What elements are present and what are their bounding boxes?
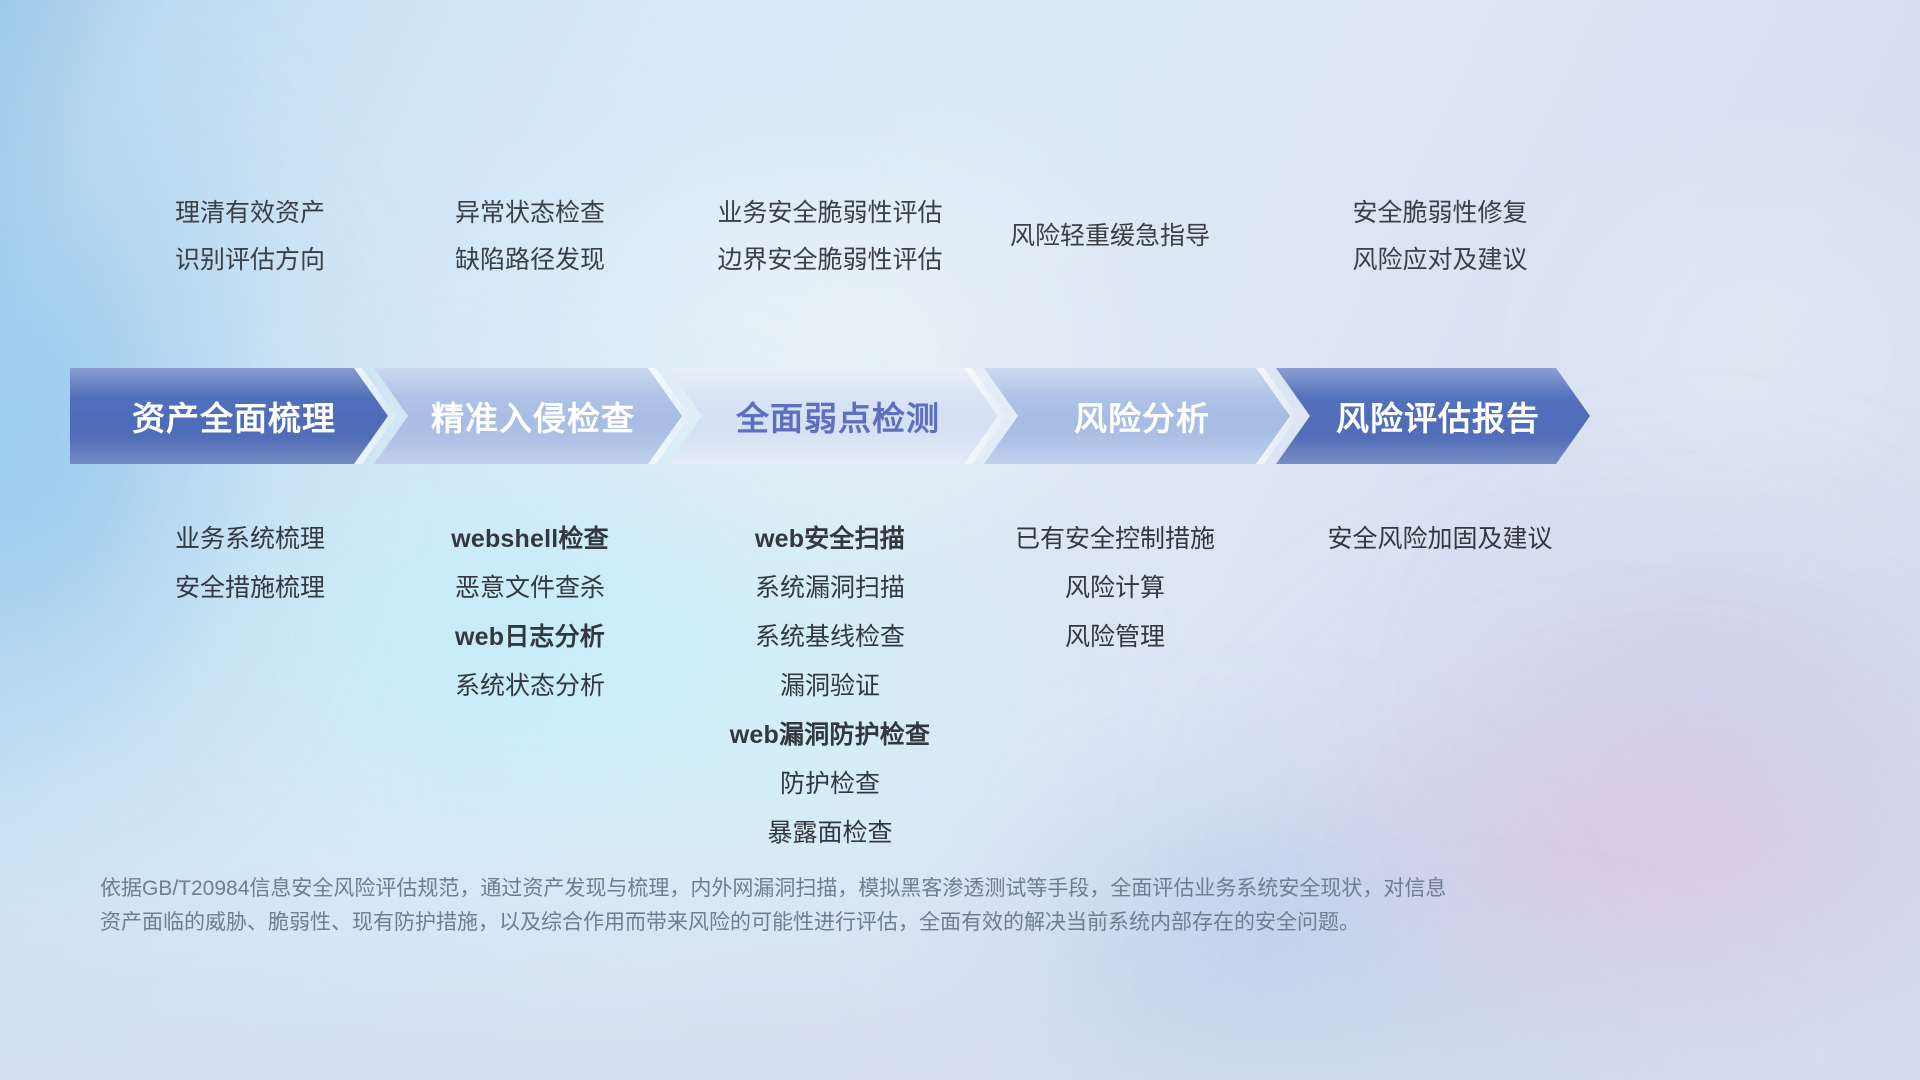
note-text: 安全风险加固及建议 <box>1170 515 1710 564</box>
stage-chevron-risk-report[interactable]: 风险评估报告 <box>1276 368 1590 464</box>
process-chevron-band: 资产全面梳理 精准入侵检查 全面弱点检测 风险分析 风险评估报告 <box>70 368 1530 464</box>
note-text: web漏洞防护检查 <box>610 711 1050 760</box>
stage-5-top-notes: 安全脆弱性修复 风险应对及建议 <box>1180 190 1700 284</box>
stage-chevron-risk-analysis[interactable]: 风险分析 <box>984 368 1290 464</box>
note-text: 安全脆弱性修复 <box>1180 190 1700 237</box>
note-text: 风险应对及建议 <box>1180 237 1700 284</box>
stage-title: 风险分析 <box>1064 392 1210 440</box>
stage-5-bottom-notes: 安全风险加固及建议 <box>1170 515 1710 564</box>
stage-title: 资产全面梳理 <box>122 392 336 440</box>
footer-line-2: 资产面临的威胁、脆弱性、现有防护措施，以及综合作用而带来风险的可能性进行评估，全… <box>100 906 1630 940</box>
stage-title: 风险评估报告 <box>1326 392 1540 440</box>
footer-line-1: 依据GB/T20984信息安全风险评估规范，通过资产发现与梳理，内外网漏洞扫描，… <box>100 872 1630 906</box>
stage-chevron-weakness-detection[interactable]: 全面弱点检测 <box>668 368 998 464</box>
footer-description: 依据GB/T20984信息安全风险评估规范，通过资产发现与梳理，内外网漏洞扫描，… <box>100 872 1630 940</box>
note-text: 漏洞验证 <box>610 662 1050 711</box>
note-text: 暴露面检查 <box>610 809 1050 858</box>
slide-canvas: 理清有效资产 识别评估方向 异常状态检查 缺陷路径发现 业务安全脆弱性评估 边界… <box>0 0 1920 1080</box>
stage-chevron-intrusion-check[interactable]: 精准入侵检查 <box>374 368 682 464</box>
stage-chevron-asset-inventory[interactable]: 资产全面梳理 <box>70 368 388 464</box>
stage-title: 全面弱点检测 <box>726 392 940 440</box>
stage-title: 精准入侵检查 <box>421 392 635 440</box>
note-text: 风险管理 <box>890 613 1340 662</box>
diagram-content: 理清有效资产 识别评估方向 异常状态检查 缺陷路径发现 业务安全脆弱性评估 边界… <box>0 0 1920 1080</box>
note-text: 风险计算 <box>890 564 1340 613</box>
note-text: 防护检查 <box>610 760 1050 809</box>
